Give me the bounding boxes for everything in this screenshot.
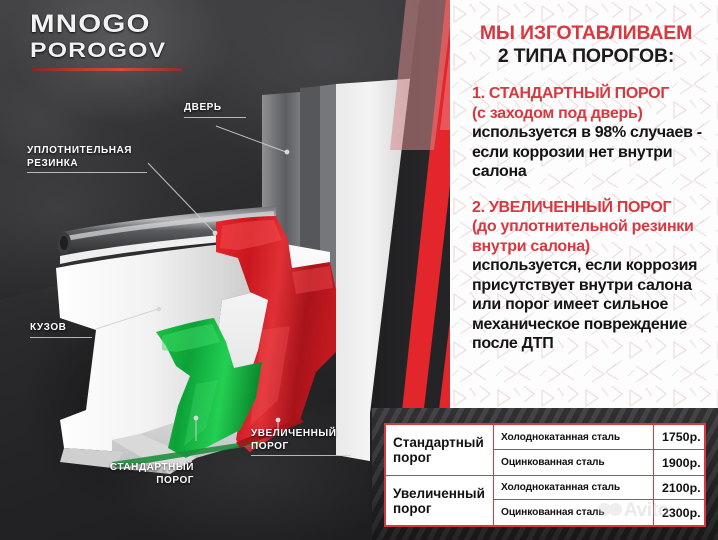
dot-enlarged [276, 418, 281, 423]
block-2-heading: 2. УВЕЛИЧЕННЫЙ ПОРОГ [472, 198, 708, 218]
logo-underline-bar [31, 68, 183, 71]
logo-line-2: POROGOV [30, 39, 219, 62]
callout-body-label: КУЗОВ [30, 322, 92, 335]
callout-door-rule [184, 117, 246, 118]
price-material-3: Холоднокатанная сталь [494, 475, 654, 500]
dot-standard [194, 416, 199, 421]
price-value-2: 1900р. [654, 450, 706, 475]
dot-door [285, 150, 290, 155]
callout-enlarged-rule [251, 455, 351, 456]
seal-end-hole [60, 236, 68, 250]
price-group-name-enlarged: Увеличенный порог [386, 475, 494, 525]
page-subtitle: 2 ТИПА ПОРОГОВ: [464, 45, 708, 68]
price-material-4: Оцинкованная сталь [494, 500, 654, 525]
callout-enlarged: УВЕЛИЧЕННЫЙ ПОРОГ [251, 428, 351, 456]
callout-body: КУЗОВ [30, 322, 92, 338]
brand-logo[interactable]: MNOGO POROGOV [30, 12, 190, 74]
price-table: Стандартный порог Холоднокатанная сталь … [384, 423, 706, 527]
dot-body [157, 307, 162, 312]
block-1-body: используется в 98% случаев - если корроз… [472, 123, 708, 182]
callout-seal-label: УПЛОТНИТЕЛЬНАЯ РЕЗИНКА [27, 145, 147, 170]
callout-enlarged-label: УВЕЛИЧЕННЫЙ ПОРОГ [251, 428, 351, 453]
price-value-1: 1750р. [654, 425, 706, 450]
callout-body-rule [30, 337, 92, 338]
poster-root: MNOGO POROGOV ДВЕРЬ УПЛОТНИТЕЛЬНАЯ РЕЗИН… [0, 0, 718, 540]
callout-standard: СТАНДАРТНЫЙ ПОРОГ [90, 462, 194, 487]
callout-door: ДВЕРЬ [184, 102, 246, 118]
price-value-3: 2100р. [654, 475, 706, 500]
dot-seal [213, 231, 218, 236]
callout-seal: УПЛОТНИТЕЛЬНАЯ РЕЗИНКА [27, 145, 147, 173]
callout-seal-rule [27, 172, 147, 173]
price-value-4: 2300р. [654, 500, 706, 525]
block-2-subheading: (до уплотнительной резинки внутри салона… [472, 217, 708, 256]
logo-line-1: MNOGO [30, 12, 219, 37]
block-1-subheading: (с заходом под дверь) [472, 104, 708, 124]
info-block-standard: 1. СТАНДАРТНЫЙ ПОРОГ (с заходом под двер… [472, 84, 708, 182]
price-material-1: Холоднокатанная сталь [494, 425, 654, 450]
price-group-name-standard: Стандартный порог [386, 425, 494, 475]
right-panel-content: МЫ ИЗГОТАВЛИВАЕМ 2 ТИПА ПОРОГОВ: 1. СТАН… [450, 0, 718, 354]
block-1-heading: 1. СТАНДАРТНЫЙ ПОРОГ [472, 84, 708, 104]
block-2-body: используется, если коррозия присутствует… [472, 256, 708, 354]
callout-standard-label: СТАНДАРТНЫЙ ПОРОГ [90, 462, 194, 487]
page-title: МЫ ИЗГОТАВЛИВАЕМ [464, 22, 708, 45]
callout-door-label: ДВЕРЬ [184, 102, 246, 115]
price-material-2: Оцинкованная сталь [494, 450, 654, 475]
info-block-enlarged: 2. УВЕЛИЧЕННЫЙ ПОРОГ (до уплотнительной … [472, 198, 708, 354]
